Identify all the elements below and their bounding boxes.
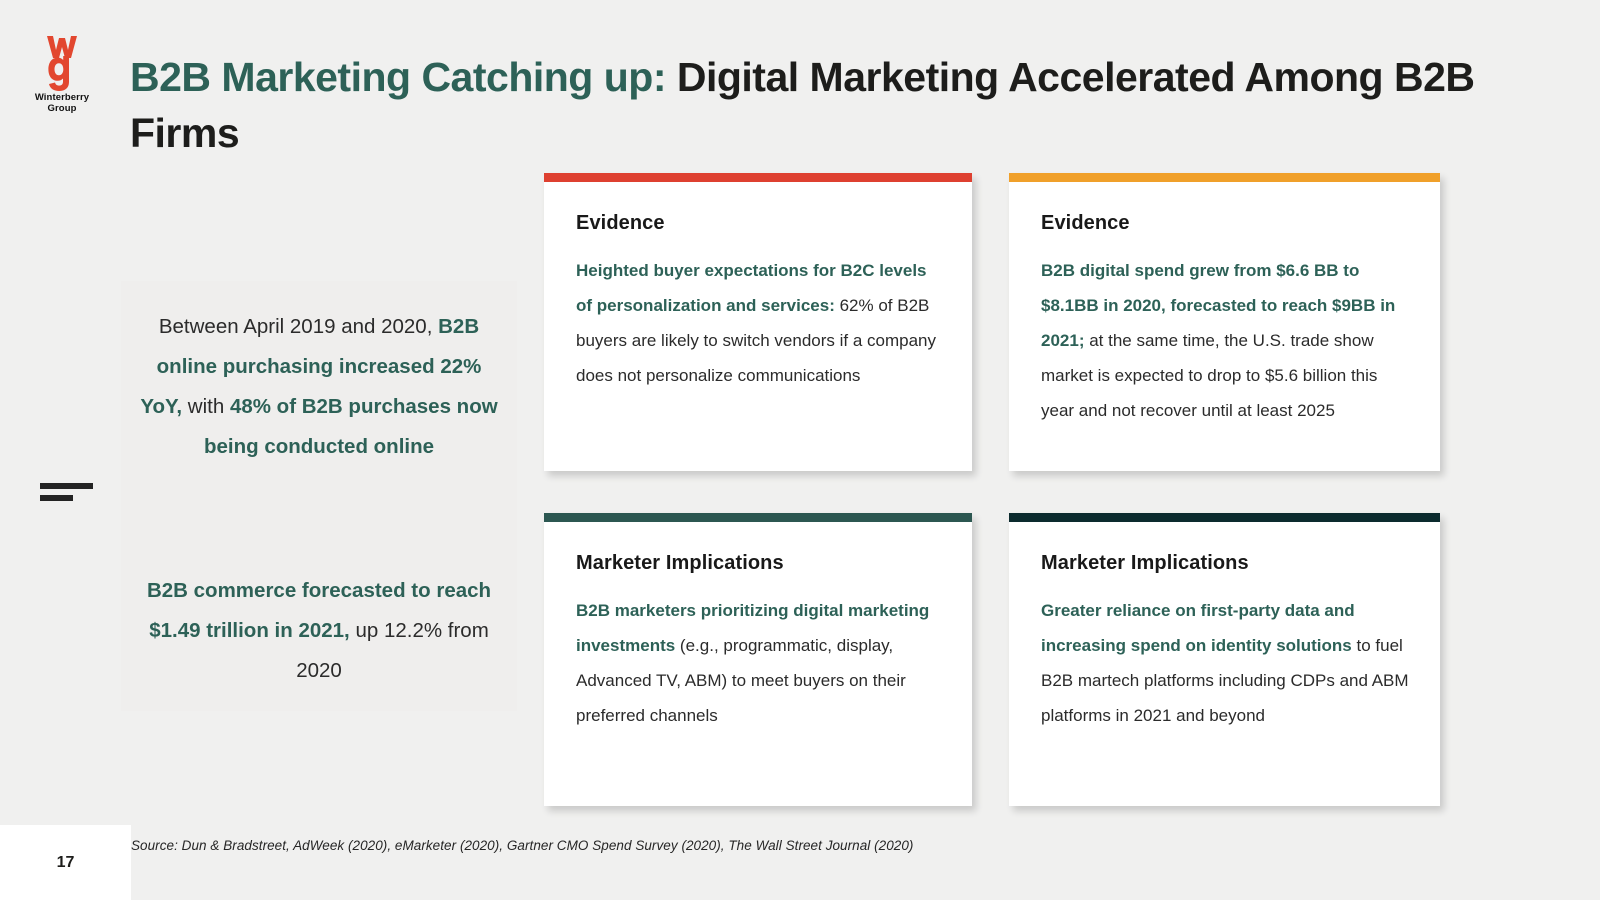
left-p1-seg4: 48% of B2B purchases now being conducted… [204,395,498,458]
dash-short [40,495,73,501]
card-heading: Evidence [1041,212,1410,235]
page-number: 17 [0,825,131,900]
winterberry-group-logo: Winterberry Group [26,30,98,122]
card-heading: Evidence [576,212,942,235]
page-title: B2B Marketing Catching up: Digital Marke… [130,49,1490,161]
decorative-dashes [40,483,93,501]
marketer-implications-card-2: Marketer Implications Greater reliance o… [1009,513,1440,806]
card-heading: Marketer Implications [1041,552,1410,575]
evidence-card-2: Evidence B2B digital spend grew from $6.… [1009,173,1440,471]
card-accent-bar-teal [544,513,972,522]
card-accent-bar-amber [1009,173,1440,182]
card-text-plain: at the same time, the U.S. trade show ma… [1041,331,1377,420]
page-title-accent: B2B Marketing Catching up: [130,54,666,100]
left-summary-panel: Between April 2019 and 2020, B2B online … [121,281,517,711]
card-text: B2B digital spend grew from $6.6 BB to $… [1041,253,1410,428]
card-body: Evidence Heighted buyer expectations for… [544,182,972,417]
left-paragraph-1: Between April 2019 and 2020, B2B online … [137,307,501,467]
evidence-card-1: Evidence Heighted buyer expectations for… [544,173,972,471]
card-text-highlight: Greater reliance on first-party data and… [1041,601,1355,655]
logo-name-line2: Group [26,103,98,114]
card-accent-bar-red [544,173,972,182]
card-heading: Marketer Implications [576,552,942,575]
card-accent-bar-dark [1009,513,1440,522]
left-p1-seg3: with [182,395,230,418]
card-body: Marketer Implications Greater reliance o… [1009,522,1440,757]
logo-name-line1: Winterberry [26,92,98,103]
source-citation: Source: Dun & Bradstreet, AdWeek (2020),… [131,838,913,853]
slide: Winterberry Group B2B Marketing Catching… [0,0,1600,900]
page-number-box: 17 [0,825,131,900]
card-body: Marketer Implications B2B marketers prio… [544,522,972,757]
card-body: Evidence B2B digital spend grew from $6.… [1009,182,1440,452]
left-paragraph-2: B2B commerce forecasted to reach $1.49 t… [137,571,501,691]
card-text: B2B marketers prioritizing digital marke… [576,593,942,733]
card-text: Greater reliance on first-party data and… [1041,593,1410,733]
wg-monogram-icon [26,30,98,92]
dash-long [40,483,93,489]
marketer-implications-card-1: Marketer Implications B2B marketers prio… [544,513,972,806]
card-text: Heighted buyer expectations for B2C leve… [576,253,942,393]
left-p1-seg1: Between April 2019 and 2020, [159,315,438,338]
